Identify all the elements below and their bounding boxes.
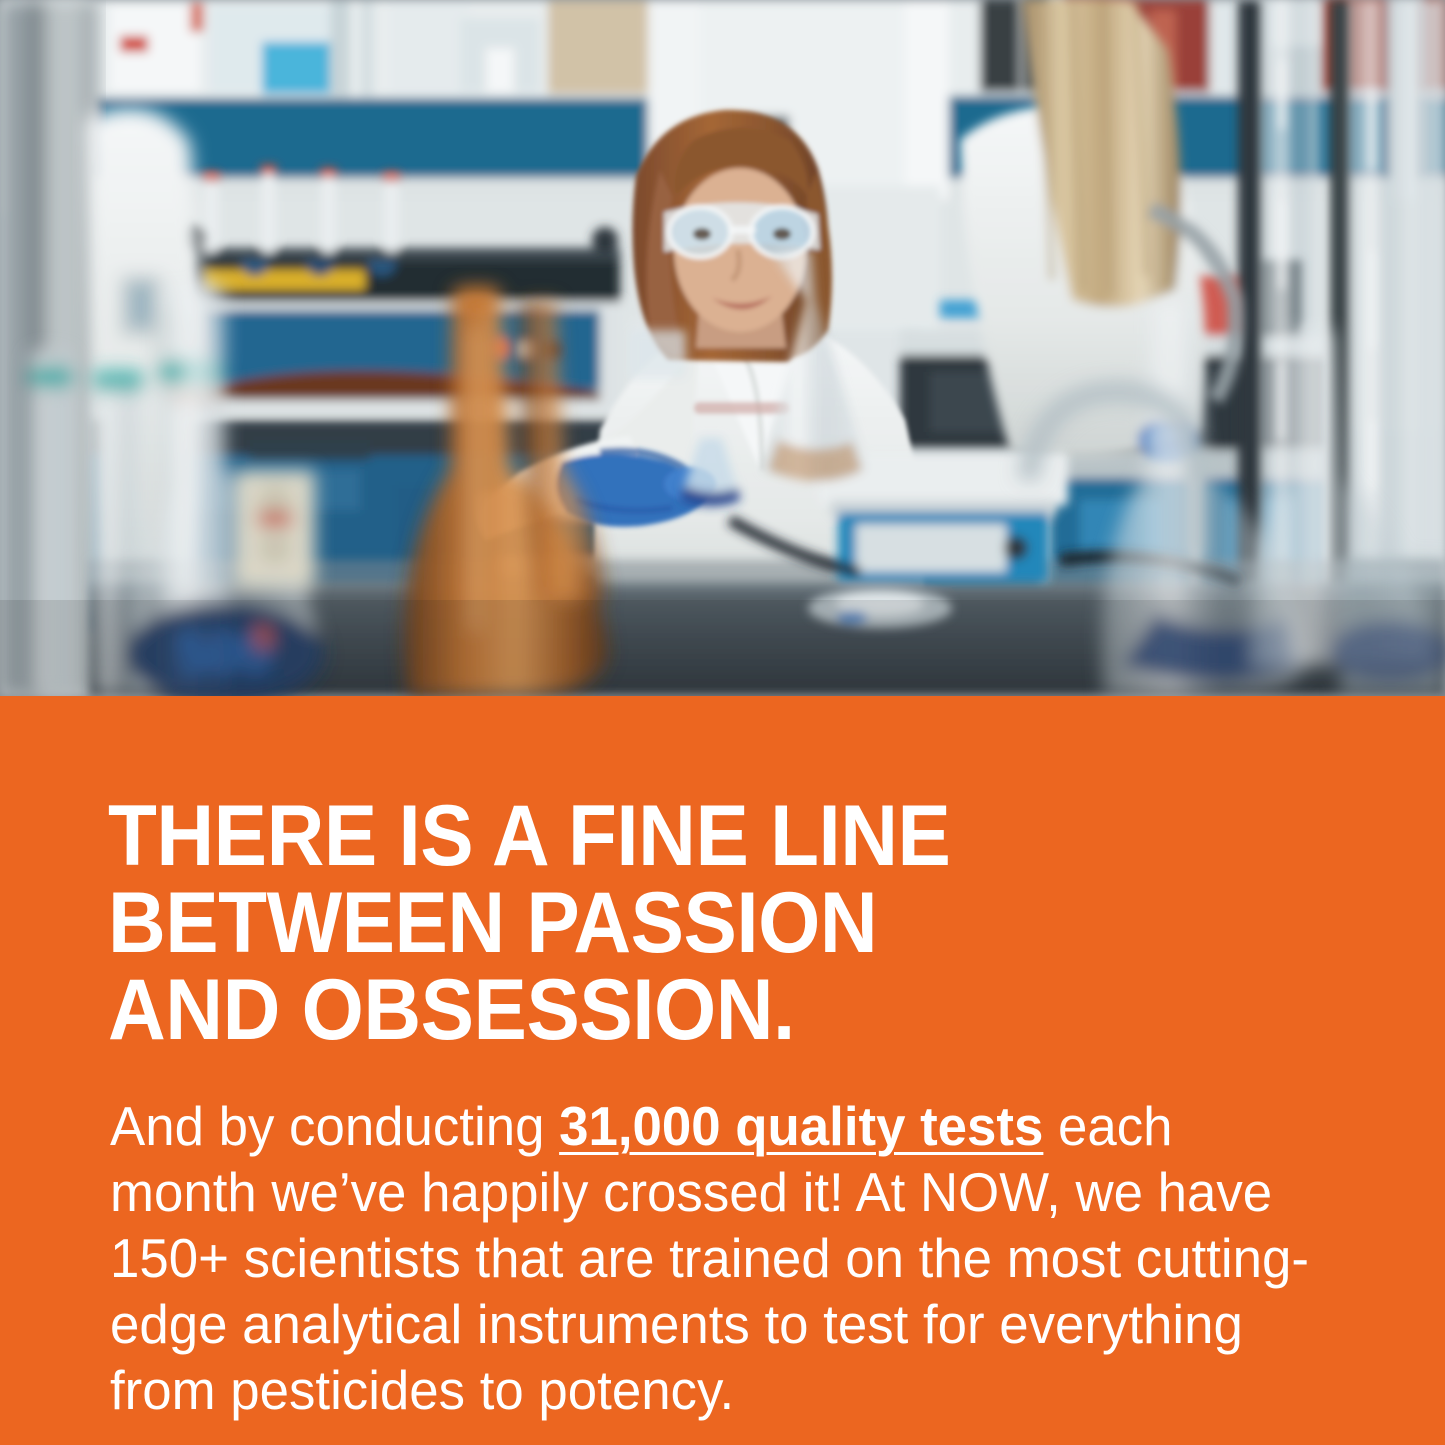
body-copy: And by conducting 31,000 quality tests e… xyxy=(110,1093,1310,1423)
lab-photo: 500 xyxy=(0,0,1445,696)
quality-tests-highlight: 31,000 quality tests xyxy=(559,1095,1043,1157)
poster-card: 500 xyxy=(0,0,1445,1445)
page-title: THERE IS A FINE LINE BETWEEN PASSION AND… xyxy=(108,793,1280,1054)
body-lead: And by conducting xyxy=(110,1095,559,1157)
